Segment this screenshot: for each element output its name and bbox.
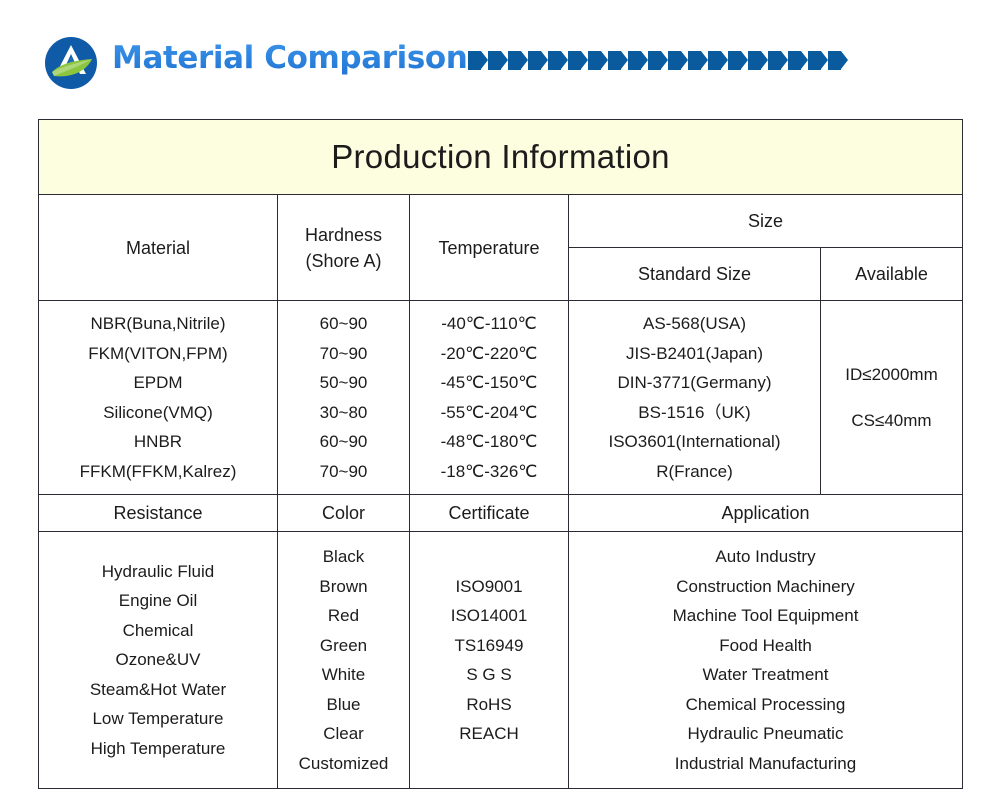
- column-header-color: Color: [278, 495, 410, 532]
- available-size-cs: CS≤40mm: [821, 398, 962, 444]
- list-item: Chemical: [123, 616, 194, 646]
- list-item: 50~90: [320, 368, 368, 398]
- list-item: 30~80: [320, 398, 368, 428]
- column-header-temperature: Temperature: [410, 195, 569, 301]
- list-item: Steam&Hot Water: [90, 675, 226, 705]
- table-title-row: Production Information: [39, 120, 963, 195]
- column-header-hardness: Hardness (Shore A): [278, 195, 410, 301]
- list-item: Industrial Manufacturing: [675, 749, 856, 779]
- list-item: 60~90: [320, 427, 368, 457]
- list-item: Machine Tool Equipment: [673, 601, 859, 631]
- table-header-row: Material Hardness (Shore A) Temperature …: [39, 195, 963, 248]
- arrow-chip-icon: [648, 51, 661, 70]
- arrow-chip-icon: [668, 51, 681, 70]
- standard-size-list: AS-568(USA) JIS-B2401(Japan) DIN-3771(Ge…: [569, 301, 820, 494]
- resistance-list: Hydraulic Fluid Engine Oil Chemical Ozon…: [39, 547, 277, 774]
- production-information-table: Production Information Material Hardness…: [38, 119, 962, 789]
- arrow-chip-icon: [588, 51, 601, 70]
- arrow-chip-icon: [728, 51, 741, 70]
- arrow-chip-icon: [528, 51, 541, 70]
- material-list-cell: NBR(Buna,Nitrile) FKM(VITON,FPM) EPDM Si…: [39, 301, 278, 495]
- list-item: HNBR: [134, 427, 182, 457]
- color-list: Black Brown Red Green White Blue Clear C…: [278, 532, 409, 788]
- list-item: Hydraulic Fluid: [102, 557, 214, 587]
- list-item: Customized: [299, 749, 389, 779]
- list-item: ISO3601(International): [609, 427, 781, 457]
- arrow-chip-icon: [568, 51, 581, 70]
- arrow-chip-icon: [768, 51, 781, 70]
- temperature-list-cell: -40℃-110℃ -20℃-220℃ -45℃-150℃ -55℃-204℃ …: [410, 301, 569, 495]
- list-item: S G S: [466, 660, 511, 690]
- list-item: R(France): [656, 457, 733, 487]
- list-item: FKM(VITON,FPM): [88, 339, 227, 369]
- list-item: Ozone&UV: [115, 645, 200, 675]
- application-list: Auto Industry Construction Machinery Mac…: [569, 532, 962, 788]
- list-item: ISO14001: [451, 601, 528, 631]
- column-header-available: Available: [821, 248, 963, 301]
- list-item: RoHS: [466, 690, 511, 720]
- list-item: -18℃-326℃: [441, 457, 538, 487]
- arrow-chip-icon: [808, 51, 821, 70]
- list-item: 70~90: [320, 339, 368, 369]
- list-item: Construction Machinery: [676, 572, 855, 602]
- list-item: -40℃-110℃: [441, 309, 537, 339]
- list-item: FFKM(FFKM,Kalrez): [80, 457, 237, 487]
- list-item: DIN-3771(Germany): [618, 368, 772, 398]
- arrow-chip-icon: [708, 51, 721, 70]
- material-list: NBR(Buna,Nitrile) FKM(VITON,FPM) EPDM Si…: [39, 301, 277, 494]
- list-item: TS16949: [455, 631, 524, 661]
- arrow-chip-icon: [508, 51, 521, 70]
- arrow-chip-icon: [788, 51, 801, 70]
- list-item: REACH: [459, 719, 519, 749]
- list-item: 60~90: [320, 309, 368, 339]
- table-title: Production Information: [39, 120, 963, 195]
- list-item: Food Health: [719, 631, 812, 661]
- list-item: Chemical Processing: [686, 690, 846, 720]
- column-header-certificate: Certificate: [410, 495, 569, 532]
- arrow-chip-icon: [828, 51, 841, 70]
- list-item: Red: [328, 601, 359, 631]
- list-item: JIS-B2401(Japan): [626, 339, 763, 369]
- color-list-cell: Black Brown Red Green White Blue Clear C…: [278, 532, 410, 789]
- page-header: Material Comparison: [0, 0, 998, 110]
- arrow-chip-icon: [488, 51, 501, 70]
- column-header-size: Size: [569, 195, 963, 248]
- column-header-resistance: Resistance: [39, 495, 278, 532]
- application-list-cell: Auto Industry Construction Machinery Mac…: [569, 532, 963, 789]
- hardness-label-line1: Hardness: [278, 222, 409, 248]
- list-item: Auto Industry: [715, 542, 815, 572]
- resistance-list-cell: Hydraulic Fluid Engine Oil Chemical Ozon…: [39, 532, 278, 789]
- available-size-id: ID≤2000mm: [821, 352, 962, 398]
- list-item: -48℃-180℃: [441, 427, 538, 457]
- certificate-list: ISO9001 ISO14001 TS16949 S G S RoHS REAC…: [410, 562, 568, 759]
- arrow-decoration-strip: [468, 50, 968, 70]
- temperature-list: -40℃-110℃ -20℃-220℃ -45℃-150℃ -55℃-204℃ …: [410, 301, 568, 494]
- standard-size-list-cell: AS-568(USA) JIS-B2401(Japan) DIN-3771(Ge…: [569, 301, 821, 495]
- list-item: Silicone(VMQ): [103, 398, 213, 428]
- list-item: Brown: [319, 572, 367, 602]
- certificate-list-cell: ISO9001 ISO14001 TS16949 S G S RoHS REAC…: [410, 532, 569, 789]
- list-item: Black: [323, 542, 365, 572]
- column-header-standard-size: Standard Size: [569, 248, 821, 301]
- list-item: White: [322, 660, 365, 690]
- hardness-label-line2: (Shore A): [278, 248, 409, 274]
- list-item: Blue: [326, 690, 360, 720]
- list-item: Green: [320, 631, 367, 661]
- available-size-cell: ID≤2000mm CS≤40mm: [821, 301, 963, 495]
- list-item: EPDM: [133, 368, 182, 398]
- arrow-chip-icon: [748, 51, 761, 70]
- list-item: Clear: [323, 719, 364, 749]
- column-header-application: Application: [569, 495, 963, 532]
- list-item: Engine Oil: [119, 586, 197, 616]
- mountain-leaf-logo-icon: [44, 36, 98, 90]
- list-item: AS-568(USA): [643, 309, 746, 339]
- hardness-list-cell: 60~90 70~90 50~90 30~80 60~90 70~90: [278, 301, 410, 495]
- arrow-chip-icon: [548, 51, 561, 70]
- column-header-material: Material: [39, 195, 278, 301]
- arrow-chip-icon: [608, 51, 621, 70]
- list-item: Water Treatment: [703, 660, 829, 690]
- list-item: High Temperature: [91, 734, 226, 764]
- list-item: Hydraulic Pneumatic: [688, 719, 844, 749]
- page-title: Material Comparison: [112, 35, 467, 81]
- table-section-header-row: Resistance Color Certificate Application: [39, 495, 963, 532]
- list-item: -55℃-204℃: [441, 398, 538, 428]
- arrow-chip-icon: [688, 51, 701, 70]
- arrow-chip-icon: [468, 51, 481, 70]
- arrow-chip-icon: [628, 51, 641, 70]
- list-item: Low Temperature: [92, 704, 223, 734]
- list-item: NBR(Buna,Nitrile): [90, 309, 225, 339]
- list-item: -45℃-150℃: [441, 368, 538, 398]
- list-item: 70~90: [320, 457, 368, 487]
- list-item: -20℃-220℃: [441, 339, 538, 369]
- material-data-row: NBR(Buna,Nitrile) FKM(VITON,FPM) EPDM Si…: [39, 301, 963, 495]
- hardness-list: 60~90 70~90 50~90 30~80 60~90 70~90: [278, 301, 409, 494]
- list-item: BS-1516（UK): [638, 398, 750, 428]
- list-item: ISO9001: [455, 572, 522, 602]
- application-data-row: Hydraulic Fluid Engine Oil Chemical Ozon…: [39, 532, 963, 789]
